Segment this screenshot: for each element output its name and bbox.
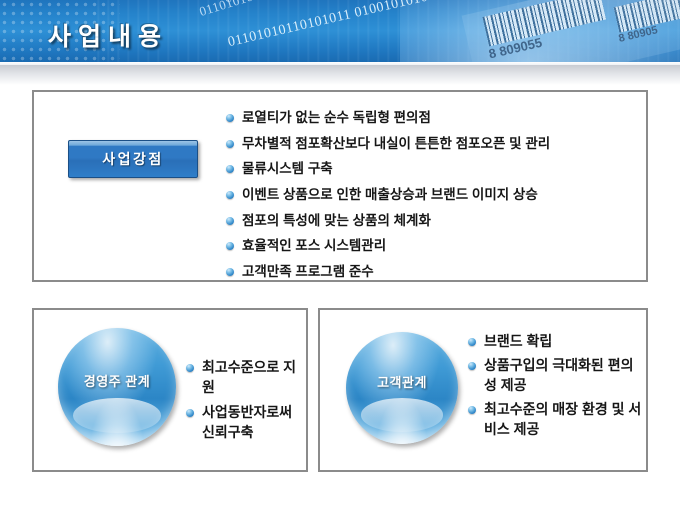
list-item: 점포의 특성에 맞는 상품의 체계화 <box>226 211 636 230</box>
bullet-sphere-icon <box>226 242 234 250</box>
bullet-sphere-icon <box>226 268 234 276</box>
panel-business-strengths: 사업강점 로열티가 없는 순수 독립형 편의점 무차별적 점포확산보다 내실이 … <box>32 90 648 282</box>
list-item-label: 물류시스템 구축 <box>242 161 333 176</box>
list-item-label: 무차별적 점포확산보다 내실이 튼튼한 점포오픈 및 관리 <box>242 136 550 151</box>
banner-lower-gradient-strip <box>0 65 680 85</box>
owner-relationship-list: 최고수준으로 지원 사업동반자로써 신뢰구축 <box>186 358 304 448</box>
business-strengths-button[interactable]: 사업강점 <box>68 140 198 178</box>
list-item-label: 브랜드 확립 <box>484 333 552 349</box>
list-item-label: 사업동반자로써 신뢰구축 <box>202 404 292 440</box>
bullet-sphere-icon <box>226 191 234 199</box>
list-item-label: 최고수준으로 지원 <box>202 359 296 395</box>
bullet-sphere-icon <box>468 362 476 370</box>
list-item: 브랜드 확립 <box>468 332 644 352</box>
list-item: 고객만족 프로그램 준수 <box>226 262 636 281</box>
bullet-sphere-icon <box>186 409 194 417</box>
bullet-sphere-icon <box>468 338 476 346</box>
bullet-sphere-icon <box>186 364 194 372</box>
bullet-sphere-icon <box>226 217 234 225</box>
bullet-sphere-icon <box>226 140 234 148</box>
list-item: 효율적인 포스 시스템관리 <box>226 236 636 255</box>
header-banner: 010101101010 0110101011 010010101010 011… <box>0 0 680 62</box>
panel-owner-relationship: 경영주 관계 최고수준으로 지원 사업동반자로써 신뢰구축 <box>32 308 308 472</box>
list-item: 무차별적 점포확산보다 내실이 튼튼한 점포오픈 및 관리 <box>226 134 636 153</box>
barcode-decoration: 8 809055 8 80905 <box>462 0 680 62</box>
list-item-label: 이벤트 상품으로 인한 매출상승과 브랜드 이미지 상승 <box>242 187 538 202</box>
owner-relationship-sphere[interactable]: 경영주 관계 <box>58 328 176 446</box>
list-item-label: 효율적인 포스 시스템관리 <box>242 238 386 253</box>
bullet-sphere-icon <box>226 114 234 122</box>
list-item: 최고수준의 매장 환경 및 서비스 제공 <box>468 400 644 440</box>
bullet-sphere-icon <box>468 406 476 414</box>
list-item: 이벤트 상품으로 인한 매출상승과 브랜드 이미지 상승 <box>226 185 636 204</box>
list-item-label: 로열티가 없는 순수 독립형 편의점 <box>242 110 431 125</box>
list-item: 로열티가 없는 순수 독립형 편의점 <box>226 108 636 127</box>
customer-relationship-list: 브랜드 확립 상품구입의 극대화된 편의성 제공 최고수준의 매장 환경 및 서… <box>468 332 644 443</box>
panel-customer-relationship: 고객관계 브랜드 확립 상품구입의 극대화된 편의성 제공 최고수준의 매장 환… <box>318 308 648 472</box>
list-item: 최고수준으로 지원 <box>186 358 304 398</box>
list-item-label: 상품구입의 극대화된 편의성 제공 <box>484 357 633 393</box>
list-item-label: 최고수준의 매장 환경 및 서비스 제공 <box>484 401 641 437</box>
slide-title: 사업내용 <box>48 17 168 53</box>
list-item-label: 고객만족 프로그램 준수 <box>242 264 374 279</box>
owner-relationship-sphere-label: 경영주 관계 <box>84 371 150 390</box>
business-strengths-button-label: 사업강점 <box>102 149 164 169</box>
customer-relationship-sphere-label: 고객관계 <box>377 372 427 391</box>
barcode-sheen-decoration <box>462 0 680 62</box>
list-item: 사업동반자로써 신뢰구축 <box>186 403 304 443</box>
list-item: 물류시스템 구축 <box>226 159 636 178</box>
customer-relationship-sphere[interactable]: 고객관계 <box>346 332 458 444</box>
list-item-label: 점포의 특성에 맞는 상품의 체계화 <box>242 213 431 228</box>
list-item: 상품구입의 극대화된 편의성 제공 <box>468 356 644 396</box>
bullet-sphere-icon <box>226 165 234 173</box>
business-strengths-list: 로열티가 없는 순수 독립형 편의점 무차별적 점포확산보다 내실이 튼튼한 점… <box>226 108 636 288</box>
